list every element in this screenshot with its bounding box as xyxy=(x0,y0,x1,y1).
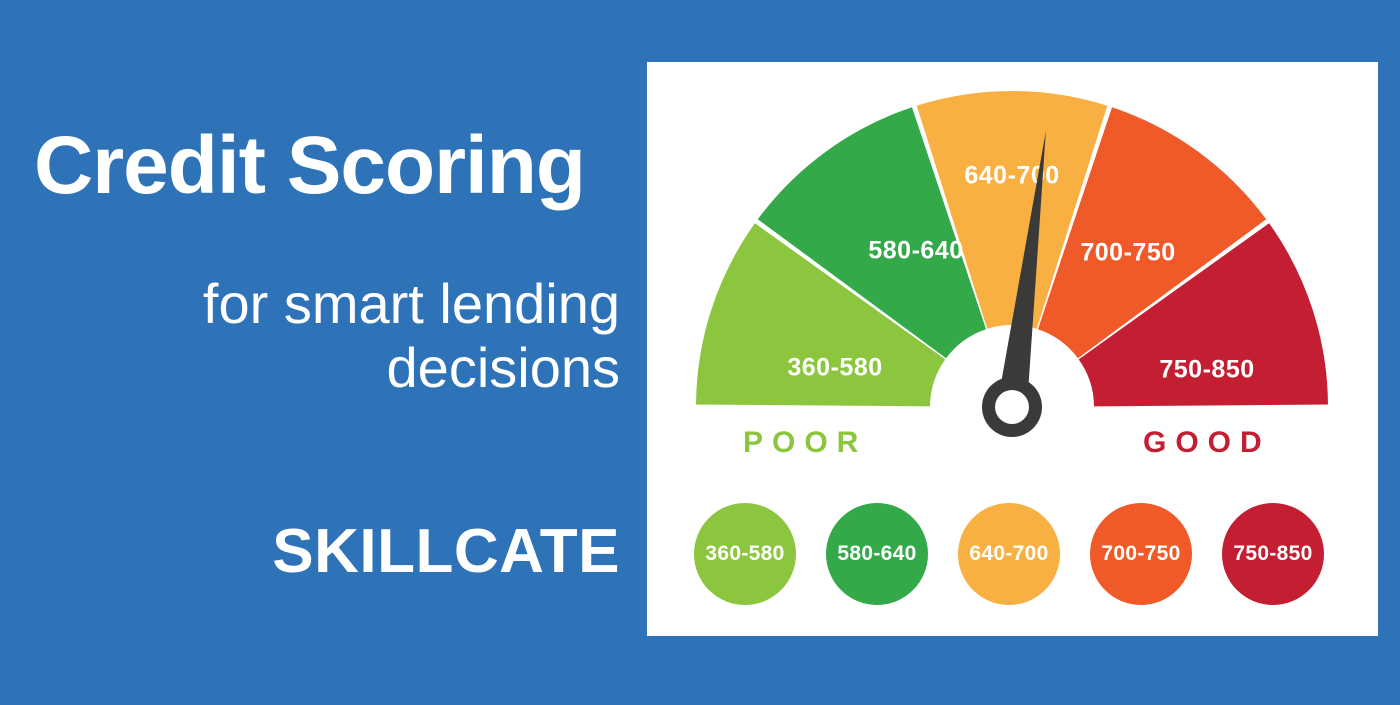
brand-logo-text: SKILLCATE xyxy=(20,516,620,587)
page-subtitle: for smart lending decisions xyxy=(20,272,620,401)
gauge-chart: 360-580580-640640-700700-750750-850 POOR… xyxy=(647,62,1378,462)
legend-item-label: 360-580 xyxy=(705,542,784,566)
legend-item-750-850[interactable]: 750-850 xyxy=(1222,503,1324,605)
legend-item-label: 750-850 xyxy=(1233,542,1312,566)
credit-scoring-banner: Credit Scoring for smart lending decisio… xyxy=(0,0,1400,705)
legend-item-360-580[interactable]: 360-580 xyxy=(694,503,796,605)
gauge-card: 360-580580-640640-700700-750750-850 POOR… xyxy=(647,62,1378,636)
legend-item-700-750[interactable]: 700-750 xyxy=(1090,503,1192,605)
gauge-segment-label-360-580: 360-580 xyxy=(787,354,882,382)
legend-item-label: 700-750 xyxy=(1101,542,1180,566)
legend-item-label: 580-640 xyxy=(837,542,916,566)
page-subtitle-line-1: for smart lending xyxy=(20,272,620,336)
legend-item-label: 640-700 xyxy=(969,542,1048,566)
gauge-segment-label-750-850: 750-850 xyxy=(1159,356,1254,384)
gauge-legend: 360-580580-640640-700700-750750-850 xyxy=(647,503,1378,623)
gauge-segment-label-700-750: 700-750 xyxy=(1080,239,1175,267)
legend-item-640-700[interactable]: 640-700 xyxy=(958,503,1060,605)
legend-item-580-640[interactable]: 580-640 xyxy=(826,503,928,605)
gauge-segment-label-640-700: 640-700 xyxy=(964,162,1059,190)
gauge-scale-label-good: GOOD xyxy=(1143,426,1271,460)
left-text-panel: Credit Scoring for smart lending decisio… xyxy=(0,0,640,705)
page-title: Credit Scoring xyxy=(34,125,624,207)
gauge-scale-label-poor: POOR xyxy=(743,426,867,460)
gauge-needle-hub-center xyxy=(995,390,1029,424)
gauge-svg: 360-580580-640640-700700-750750-850 xyxy=(667,62,1357,462)
page-subtitle-line-2: decisions xyxy=(20,336,620,400)
gauge-segment-label-580-640: 580-640 xyxy=(868,237,963,265)
